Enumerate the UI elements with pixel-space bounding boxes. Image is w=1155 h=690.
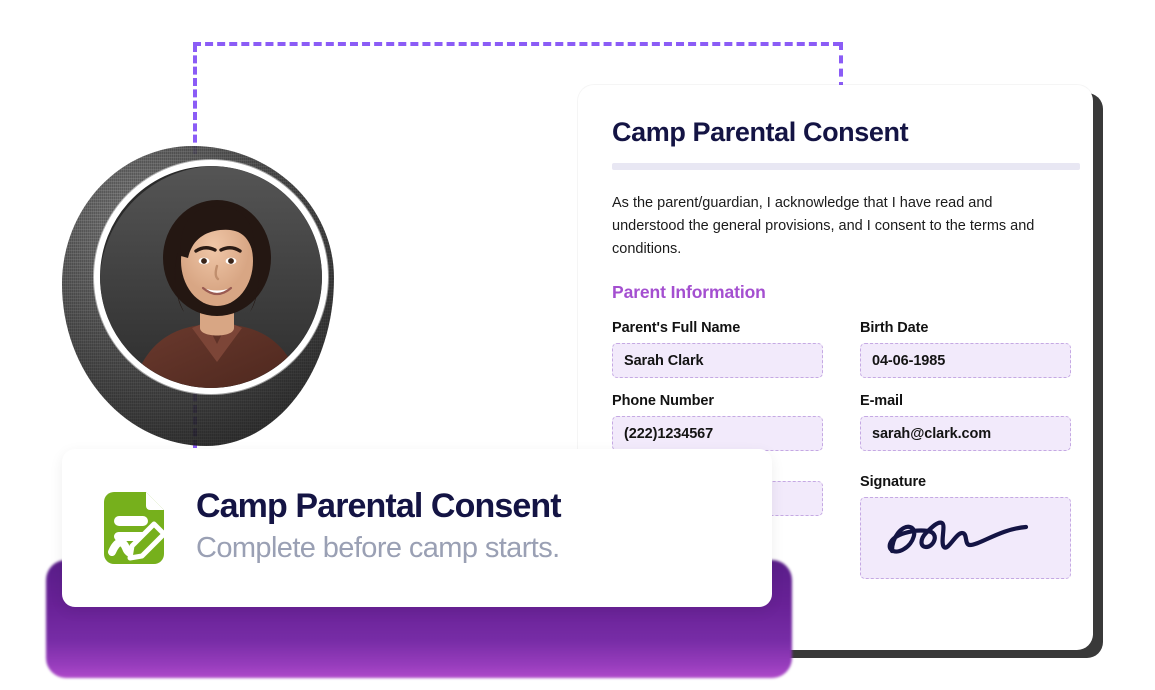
field-label: Birth Date — [860, 320, 1071, 336]
email-input[interactable]: sarah@clark.com — [860, 416, 1071, 451]
field-signature: Signature — [860, 474, 1071, 579]
field-phone-number: Phone Number (222)1234567 — [612, 393, 823, 451]
title-divider — [612, 163, 1080, 170]
promo-title: Camp Parental Consent — [196, 487, 561, 525]
document-signature-icon — [94, 490, 170, 566]
field-email: E-mail sarah@clark.com — [860, 393, 1071, 451]
parent-full-name-input[interactable]: Sarah Clark — [612, 343, 823, 378]
signature-input[interactable] — [860, 497, 1071, 579]
field-label: Signature — [860, 474, 1071, 490]
connector-segment-left — [193, 44, 197, 154]
connector-segment-right — [839, 42, 843, 90]
field-label: E-mail — [860, 393, 1071, 409]
promo-card[interactable]: Camp Parental Consent Complete before ca… — [62, 449, 772, 607]
field-label: Phone Number — [612, 393, 823, 409]
section-heading-parent-information: Parent Information — [612, 282, 1075, 303]
signature-mark — [876, 507, 1056, 569]
phone-number-input[interactable]: (222)1234567 — [612, 416, 823, 451]
field-parent-full-name: Parent's Full Name Sarah Clark — [612, 320, 823, 378]
consent-paragraph: As the parent/guardian, I acknowledge th… — [612, 192, 1064, 260]
avatar — [72, 152, 324, 404]
field-birth-date: Birth Date 04-06-1985 — [860, 320, 1071, 378]
promo-text-block: Camp Parental Consent Complete before ca… — [196, 487, 561, 569]
form-title: Camp Parental Consent — [612, 117, 1075, 148]
scene: Camp Parental Consent As the parent/guar… — [0, 0, 1155, 690]
connector-segment-top — [193, 42, 841, 46]
birth-date-input[interactable]: 04-06-1985 — [860, 343, 1071, 378]
promo-subtitle: Complete before camp starts. — [196, 532, 561, 564]
avatar-photo — [100, 166, 322, 388]
field-label: Parent's Full Name — [612, 320, 823, 336]
avatar-ring — [94, 160, 328, 394]
